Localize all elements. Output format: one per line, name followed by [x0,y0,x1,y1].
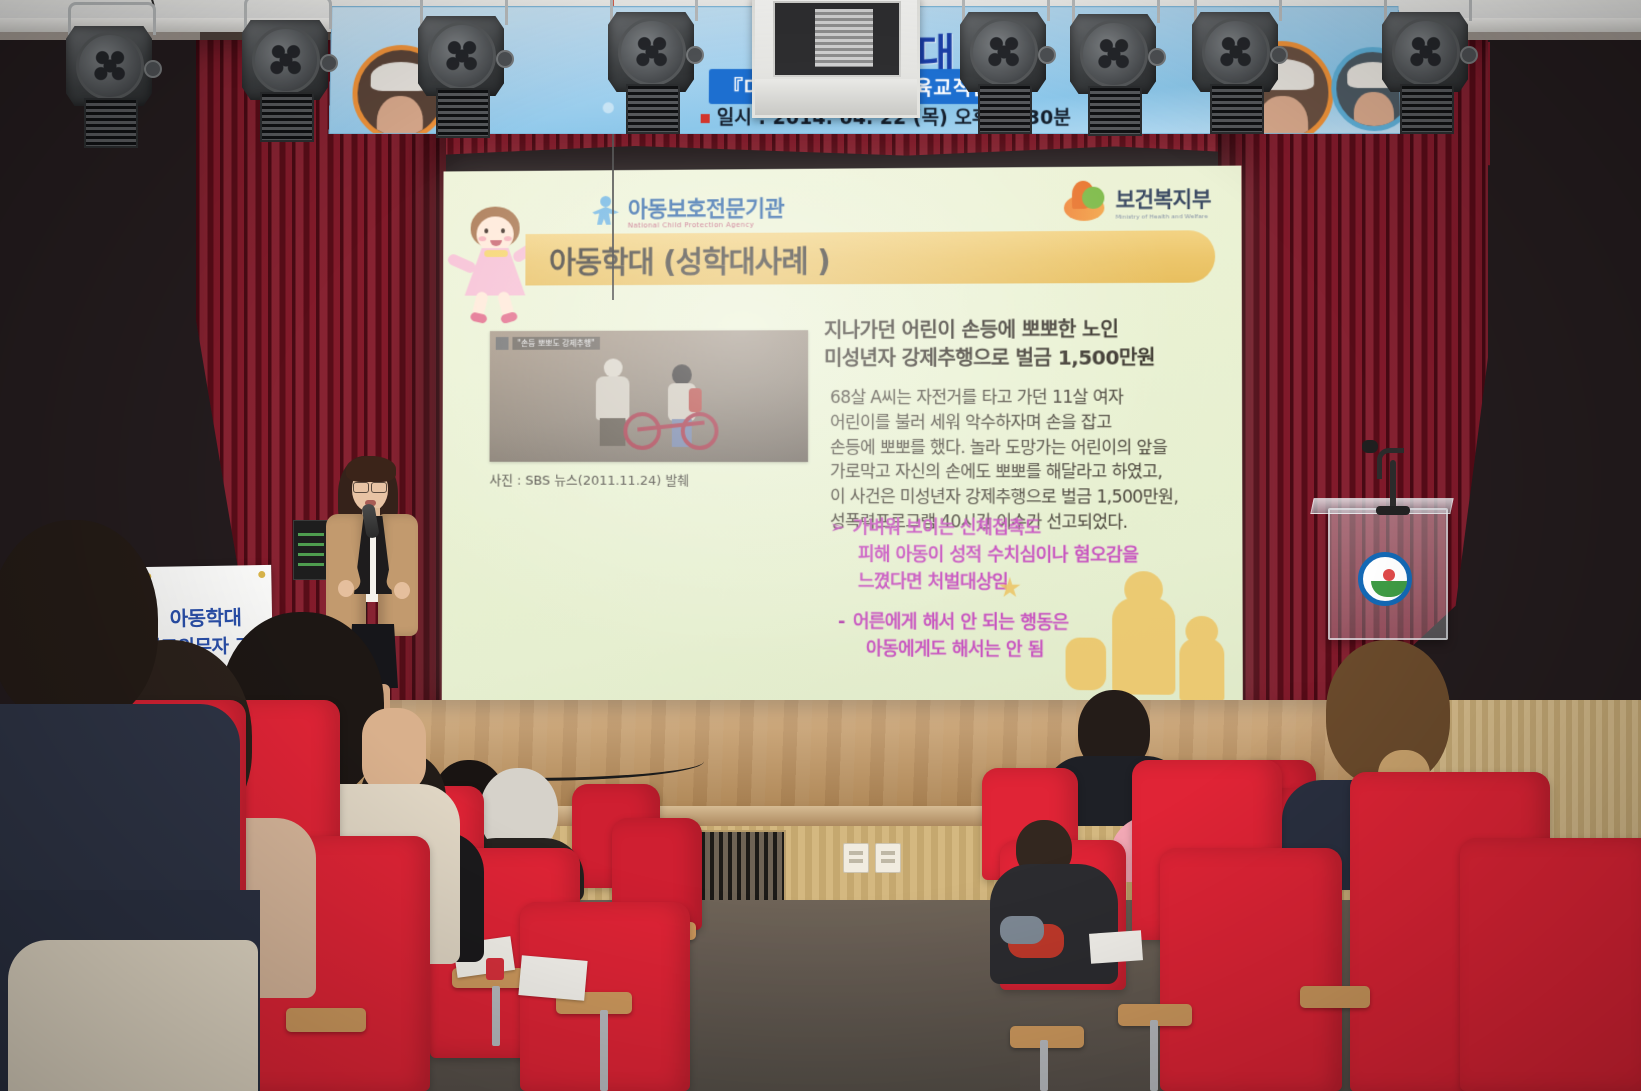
stage-light-icon [62,14,156,144]
org-right-subtitle: Ministry of Health and Welfare [1115,213,1211,221]
banner-place-text: 장소 : 순창군 청소년문화센타 [717,133,955,134]
body-line-5: 이 사건은 미성년자 강제추행으로 벌금 1,500만원, [830,485,1238,511]
projection-screen: 아동보호전문기관 National Child Protection Agenc… [442,166,1243,712]
body-line-1: 68살 A씨는 자전거를 타고 가던 11살 여자 [830,385,1238,410]
glasses-icon [353,482,369,493]
seat-armrest [286,1008,366,1032]
slide-logo-right: 보건복지부 Ministry of Health and Welfare [1064,180,1211,223]
seat-leg [492,986,500,1046]
seat-leg [600,1010,608,1091]
org-right-name: 보건복지부 [1115,182,1211,213]
handout-paper [1089,930,1143,964]
wall-outlet[interactable] [843,843,869,873]
center-aisle [690,930,1020,1091]
tote-bag [8,940,258,1091]
stage-light-icon [604,0,698,130]
news-photo-bicycle-icon [623,416,718,450]
news-photo: "손등 뽀뽀도 강제추행" [490,330,809,462]
microphone-icon [1362,440,1378,453]
news-photo-tag: "손등 뽀뽀도 강제추행" [496,336,600,350]
bullet-2-marker: - [838,611,845,632]
body-line-3: 손등에 뽀뽀를 했다. 놀라 도망가는 어린이의 앞을 [830,436,1238,461]
projector-icon [752,0,920,118]
seat-armrest [1300,986,1370,1008]
body-line-2: 어린이를 불러 세워 악수하자며 손을 잡고 [830,411,1238,436]
slide-headline: 지나가던 어린이 손등에 뽀뽀한 노인 미성년자 강제추행으로 벌금 1,500… [824,315,1228,373]
seat[interactable] [1160,848,1342,1091]
stage-light-icon [1378,0,1472,130]
news-photo-caption: 사진 : SBS 뉴스(2011.11.24) 발췌 [489,470,689,489]
slide-title-bar: 아동학대 (성학대사례 ) [525,230,1215,285]
sunchang-emblem-icon [1358,552,1412,606]
wall-outlet[interactable] [875,843,901,873]
bullet-1-line-3: 느꼈다면 처벌대상임 [858,571,1008,593]
microphone-stand [1390,460,1396,512]
headline-line-1: 지나가던 어린이 손등에 뽀뽀한 노인 [824,315,1228,345]
seat[interactable] [1460,838,1641,1091]
bullet-1-marker: ➢ [830,517,844,538]
headline-line-2: 미성년자 강제추행으로 벌금 1,500만원 [824,343,1228,372]
body-line-4: 가로막고 자신의 손에도 뽀뽀를 해달라고 하였고, [830,460,1238,485]
bullet-2-line-2: 아동에게도 해서는 안 됨 [866,638,1044,660]
stage-light-icon [1066,2,1160,132]
slide-bullet-2: -어른에게 해서 안 되는 행동은 아동에게도 해서는 안 됨 [838,608,1243,665]
stage-light-icon [414,4,508,134]
seat-leg [1040,1040,1048,1091]
banner-place-line: 장소 : 순창군 청소년문화센타 [700,129,954,134]
audience-hand [362,708,426,794]
red-folder [486,958,504,980]
slide-bullet-1: ➢가벼워 보이는 신체접촉도 피해 아동이 성적 수치심이나 혐오감을 느꼈다면… [830,514,1234,597]
mohw-logo-icon [1064,181,1107,223]
stage-light-icon [238,8,332,138]
bullet-1-line-1: 가벼워 보이는 신체접촉도 [852,517,1040,539]
stage-light-icon [1188,0,1282,130]
auditorium-photo: 아동보호전문기관 National Child Protection Agenc… [0,0,1641,1091]
handout-paper [518,955,587,1001]
seat-leg [1150,1020,1158,1091]
bullet-1-line-2: 피해 아동이 성적 수치심이나 혐오감을 [858,544,1139,566]
child-protection-logo-icon [590,196,620,226]
slide-logo-left: 아동보호전문기관 National Child Protection Agenc… [590,191,784,230]
audience-member-child [990,820,1110,1000]
podium [1328,508,1448,640]
org-left-name: 아동보호전문기관 [628,191,784,224]
audience-member [0,520,200,920]
bullet-2-line-1: 어른에게 해서 안 되는 행동은 [853,611,1069,633]
news-tag-label: "손등 뽀뽀도 강제추행" [512,336,599,349]
microphone-base [1376,506,1410,515]
slide-title: 아동학대 (성학대사례 ) [549,236,830,281]
stage-light-icon [956,0,1050,130]
